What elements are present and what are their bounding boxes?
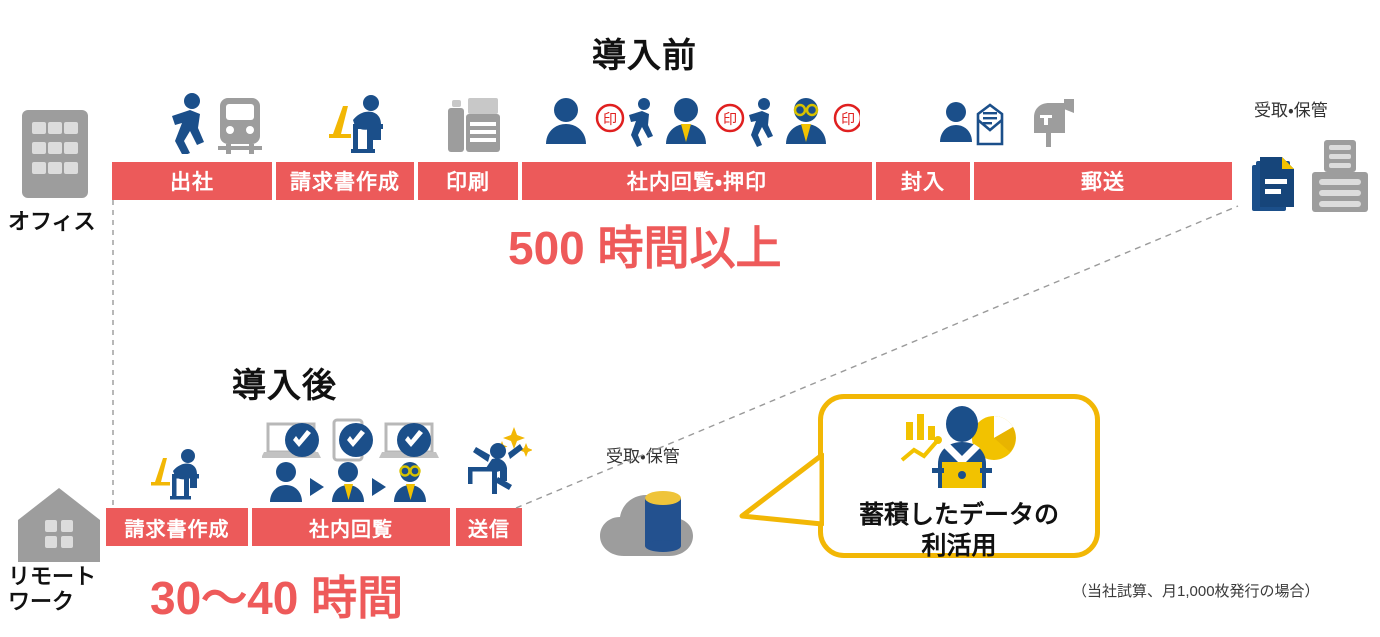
- svg-text:印: 印: [841, 111, 855, 127]
- digital-approval-flow-icon: [262, 418, 448, 502]
- storage-caption-before: 受取・保管: [1254, 96, 1328, 121]
- approval-stamp-chain-icon: 印 印 印: [540, 94, 860, 156]
- page-title-after: 導入後: [232, 358, 337, 407]
- stage-label: 送信: [468, 513, 510, 542]
- stage-bar-after-1[interactable]: 社内回覧: [252, 508, 450, 546]
- stage-label: 請求書作成: [125, 513, 230, 542]
- mailbox-icon: [1030, 97, 1080, 149]
- stage-bar-before-0[interactable]: 出社: [112, 162, 272, 200]
- bubble-text-line1: 蓄積したデータの: [818, 500, 1100, 531]
- paper-documents-icon: [1252, 157, 1302, 213]
- home-desk-worker-icon: [148, 448, 208, 500]
- home-icon: [18, 488, 100, 562]
- svg-text:印: 印: [723, 111, 737, 127]
- remote-work-label-line2: ワーク: [8, 590, 96, 615]
- stage-bar-before-2[interactable]: 印刷: [418, 162, 518, 200]
- stage-label: 封入: [901, 166, 945, 196]
- stage-bar-before-1[interactable]: 請求書作成: [276, 162, 414, 200]
- bubble-text: 蓄積したデータの 利活用: [818, 500, 1100, 563]
- stage-bar-before-3[interactable]: 社内回覧・押印: [522, 162, 872, 200]
- bubble-text-line2: 利活用: [818, 531, 1100, 562]
- printer-icon: [446, 96, 502, 154]
- total-hours-before: 500 時間以上: [508, 212, 782, 278]
- office-label: オフィス: [8, 210, 96, 235]
- stage-label: 請求書作成: [290, 166, 400, 196]
- remote-work-label-line1: リモート: [8, 565, 96, 590]
- stage-label: 社内回覧・押印: [627, 166, 767, 196]
- stage-bar-after-0[interactable]: 請求書作成: [106, 508, 248, 546]
- footnote: （当社試算、月1,000枚発行の場合）: [1072, 580, 1320, 601]
- storage-caption-after: 受取・保管: [606, 442, 680, 467]
- stage-label: 印刷: [446, 166, 490, 196]
- office-building-icon: [18, 110, 92, 198]
- envelope-person-icon: [940, 100, 1006, 152]
- page-title-before: 導入前: [592, 28, 697, 77]
- stage-bar-after-2[interactable]: 送信: [456, 508, 522, 546]
- celebrating-worker-icon: [462, 425, 532, 497]
- stage-bar-before-4[interactable]: 封入: [876, 162, 970, 200]
- svg-text:印: 印: [603, 111, 617, 127]
- data-analytics-person-icon: [898, 404, 1018, 488]
- stage-label: 郵送: [1081, 166, 1125, 196]
- desk-worker-icon: [325, 94, 395, 154]
- total-hours-after: 30〜40 時間: [150, 562, 403, 628]
- remote-work-label: リモート ワーク: [8, 565, 96, 614]
- commute-train-icon: [168, 92, 264, 154]
- stage-label: 出社: [170, 166, 214, 196]
- filing-cabinet-icon: [1312, 140, 1368, 212]
- cloud-database-icon: [598, 478, 722, 560]
- stage-bar-before-5[interactable]: 郵送: [974, 162, 1232, 200]
- stage-label: 社内回覧: [309, 513, 393, 542]
